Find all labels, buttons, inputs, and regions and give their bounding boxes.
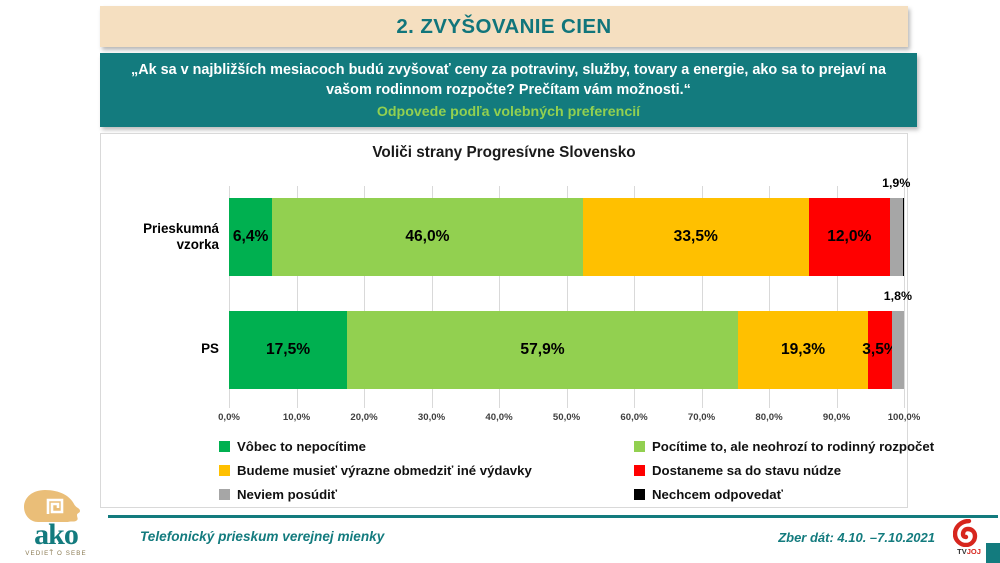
- legend-item[interactable]: Dostaneme sa do stavu núdze: [634, 463, 934, 478]
- axis-tick-label: 50,0%: [553, 412, 580, 423]
- axis-tick-label: 60,0%: [620, 412, 647, 423]
- legend-swatch: [634, 441, 645, 452]
- legend-swatch: [219, 441, 230, 452]
- ako-logo: ako VEDIEŤ O SEBE: [8, 488, 104, 560]
- axis-tick-label: 80,0%: [755, 412, 782, 423]
- question-text: „Ak sa v najbližších mesiacoch budú zvyš…: [116, 61, 901, 101]
- slide-title-banner: 2. ZVYŠOVANIE CIEN: [100, 6, 908, 47]
- footer-note: Telefonický prieskum verejnej mienky: [140, 529, 384, 544]
- axis-tick-label: 70,0%: [688, 412, 715, 423]
- axis-tick-label: 30,0%: [418, 412, 445, 423]
- bar-segment: 19,3%: [738, 311, 868, 389]
- footer-divider: [108, 515, 998, 518]
- category-label: Prieskumná vzorka: [99, 221, 219, 254]
- legend-swatch: [219, 465, 230, 476]
- question-box: „Ak sa v najbližších mesiacoch budú zvyš…: [100, 53, 917, 127]
- bar-segment: 57,9%: [347, 311, 738, 389]
- corner-tab: [986, 543, 1000, 563]
- page-title: 2. ZVYŠOVANIE CIEN: [396, 15, 611, 39]
- bar-segment: [903, 198, 904, 276]
- chart-legend: Vôbec to nepocítimePocítime to, ale neoh…: [219, 439, 899, 502]
- legend-swatch: [219, 489, 230, 500]
- tvjoj-tv: TV: [957, 547, 967, 556]
- legend-label: Pocítime to, ale neohrozí to rodinný roz…: [652, 439, 934, 454]
- joj-spiral-icon: [953, 519, 985, 547]
- tvjoj-joj: JOJ: [967, 547, 981, 556]
- bar-row: 6,4%46,0%33,5%12,0%1,9%: [229, 198, 904, 276]
- axis-tick-label: 10,0%: [283, 412, 310, 423]
- question-subtitle: Odpovede podľa volebných preferencií: [116, 104, 901, 120]
- ako-wordmark: ako: [8, 520, 104, 550]
- chart-panel: Voliči strany Progresívne Slovensko 6,4%…: [100, 133, 908, 508]
- legend-item[interactable]: Budeme musieť výrazne obmedziť iné výdav…: [219, 463, 634, 478]
- legend-label: Nechcem odpovedať: [652, 487, 783, 502]
- legend-label: Vôbec to nepocítime: [237, 439, 366, 454]
- footer-date: Zber dát: 4.10. –7.10.2021: [778, 530, 935, 545]
- legend-label: Budeme musieť výrazne obmedziť iné výdav…: [237, 463, 532, 478]
- bar-segment: 33,5%: [583, 198, 809, 276]
- bar-segment-label: 1,9%: [882, 176, 910, 190]
- axis-tick-label: 90,0%: [823, 412, 850, 423]
- bar-segment: 6,4%: [229, 198, 272, 276]
- legend-label: Dostaneme sa do stavu núdze: [652, 463, 841, 478]
- chart-plot-area: 6,4%46,0%33,5%12,0%1,9%17,5%57,9%19,3%3,…: [229, 186, 904, 408]
- legend-swatch: [634, 489, 645, 500]
- bar-row: 17,5%57,9%19,3%3,5%1,8%: [229, 311, 904, 389]
- legend-item[interactable]: Nechcem odpovedať: [634, 487, 934, 502]
- bar-segment: 12,0%: [809, 198, 890, 276]
- bar-segment: 1,8%: [892, 311, 904, 389]
- bar-segment: 3,5%: [868, 311, 892, 389]
- axis-tick-label: 0,0%: [218, 412, 240, 423]
- category-label: PS: [99, 341, 219, 357]
- value-axis-labels: 0,0%10,0%20,0%30,0%40,0%50,0%60,0%70,0%8…: [229, 408, 904, 430]
- ako-tagline: VEDIEŤ O SEBE: [8, 550, 104, 557]
- legend-item[interactable]: Pocítime to, ale neohrozí to rodinný roz…: [634, 439, 934, 454]
- legend-item[interactable]: Vôbec to nepocítime: [219, 439, 634, 454]
- bar-segment-label: 1,8%: [884, 289, 912, 303]
- legend-swatch: [634, 465, 645, 476]
- chart-title: Voliči strany Progresívne Slovensko: [101, 144, 907, 162]
- bar-segment: 1,9%: [890, 198, 903, 276]
- axis-tick-label: 100,0%: [888, 412, 921, 423]
- axis-tick-label: 20,0%: [350, 412, 377, 423]
- axis-tick-label: 40,0%: [485, 412, 512, 423]
- legend-item[interactable]: Neviem posúdiť: [219, 487, 634, 502]
- bar-segment: 46,0%: [272, 198, 583, 276]
- legend-label: Neviem posúdiť: [237, 487, 337, 502]
- bar-segment: 17,5%: [229, 311, 347, 389]
